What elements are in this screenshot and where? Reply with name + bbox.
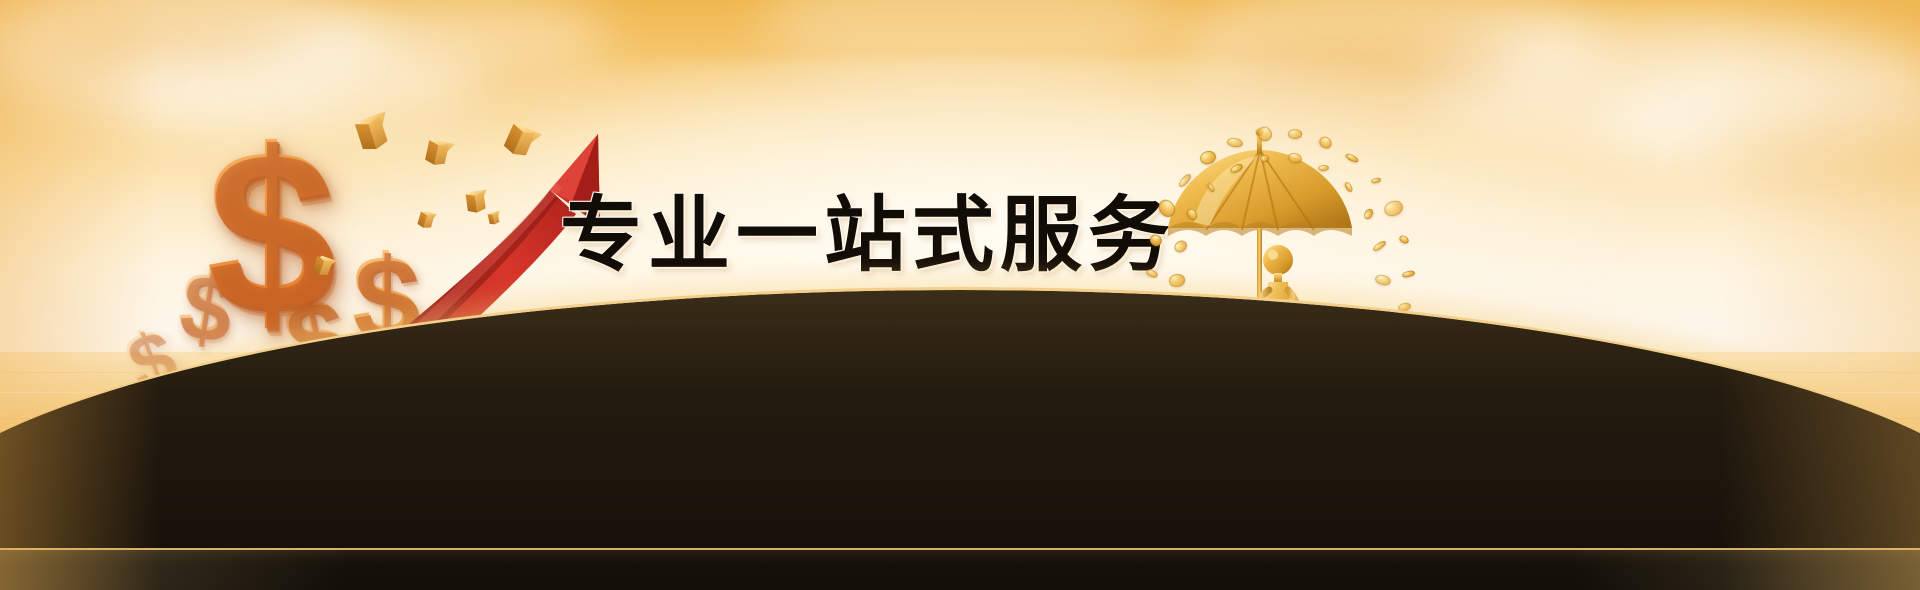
page-title: 专业一站式服务 xyxy=(560,168,1176,287)
gold-coin-icon xyxy=(1288,129,1302,139)
promo-banner: $ $ $ $ $ $ $ $ xyxy=(0,0,1920,590)
